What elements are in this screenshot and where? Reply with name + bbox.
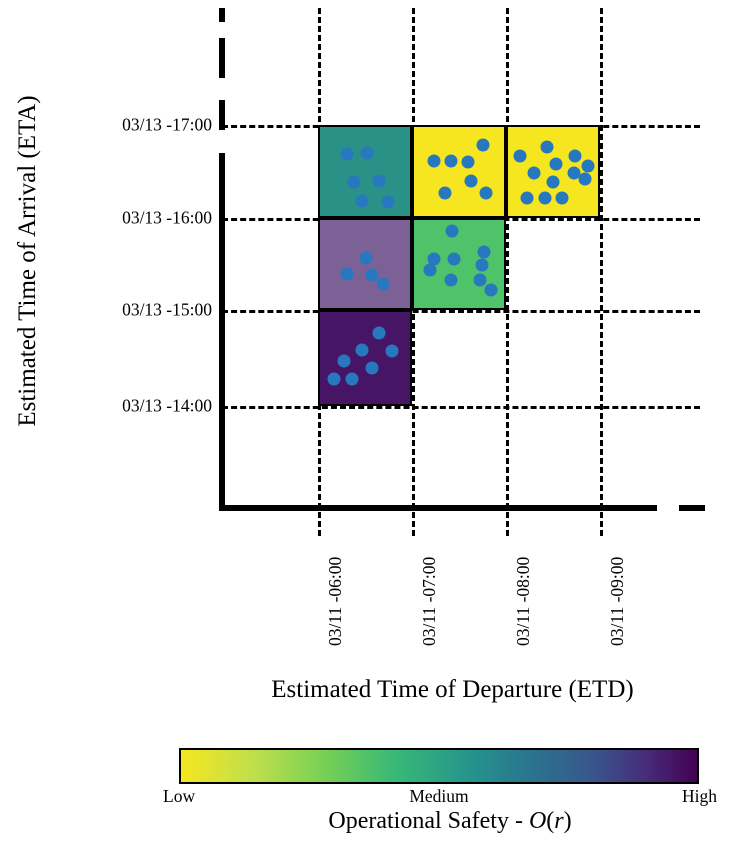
y-tick-label-0: 03/13 -17:00 [62,115,212,136]
colorbar-title-text: Operational Safety - [328,808,529,834]
scatter-dot [346,373,359,386]
scatter-dot [480,186,493,199]
x-tick-label-0: 03/11 -06:00 [325,557,346,646]
scatter-dot [341,147,354,160]
scatter-dot [327,373,340,386]
scatter-dot [473,273,486,286]
scatter-dot [484,284,497,297]
y-axis-spine-break-1 [219,38,226,78]
scatter-dot [373,327,386,340]
scatter-dot [366,362,379,375]
scatter-dot [373,175,386,188]
scatter-dot [579,172,592,185]
cell-r17-c06 [318,125,412,218]
colorbar-gradient [179,748,699,784]
scatter-dot [556,192,569,205]
cell-r17-c08 [506,125,600,218]
y-axis-spine [219,153,226,511]
colorbar-title-symbol-o: O [529,808,546,834]
cell-r15-c06 [318,310,412,406]
colorbar-title-paren-close: ) [564,808,572,834]
scatter-dot [568,150,581,163]
colorbar-container: Low Medium High [179,748,699,810]
scatter-dot [427,154,440,167]
gridline-horizontal-2 [222,310,700,313]
scatter-dot [360,146,373,159]
scatter-dot [356,343,369,356]
scatter-dot [477,138,490,151]
scatter-dot [520,192,533,205]
x-tick-label-3: 03/11 -09:00 [607,557,628,646]
colorbar-title-symbol-r: r [554,808,563,834]
y-tick-label-3: 03/13 -14:00 [62,396,212,417]
y-tick-label-1: 03/13 -16:00 [62,208,212,229]
colorbar-tick-low: Low [163,786,195,807]
y-axis-spine-break-2 [219,100,226,130]
scatter-dot [464,175,477,188]
scatter-dot [513,150,526,163]
cell-r16-c06 [318,218,412,310]
scatter-dot [540,141,553,154]
scatter-dot [478,245,491,258]
x-tick-label-2: 03/11 -08:00 [513,557,534,646]
scatter-dot [475,258,488,271]
scatter-dot [341,267,354,280]
x-axis-title: Estimated Time of Departure (ETD) [175,676,730,704]
scatter-dot [538,192,551,205]
scatter-dot [462,155,475,168]
gridline-horizontal-3 [222,406,700,409]
scatter-dot [528,167,541,180]
y-axis-title: Estimated Time of Arrival (ETA) [14,11,42,511]
scatter-dot [381,195,394,208]
gridline-vertical-3 [600,8,603,536]
x-tick-label-1: 03/11 -07:00 [419,557,440,646]
scatter-dot [444,154,457,167]
colorbar-tick-medium: Medium [409,786,468,807]
scatter-dot [582,160,595,173]
cell-r16-c07 [412,218,506,310]
scatter-dot [359,251,372,264]
scatter-dot [547,176,560,189]
scatter-dot [348,176,361,189]
scatter-dot [356,194,369,207]
y-axis-spine-break-0 [219,8,226,22]
gridline-vertical-2 [506,8,509,536]
scatter-dot [444,273,457,286]
x-axis-spine [219,505,657,512]
scatter-dot [424,264,437,277]
scatter-dot [386,344,399,357]
colorbar-tick-high: High [682,786,717,807]
scatter-dot [338,354,351,367]
scatter-dot [366,268,379,281]
y-tick-label-2: 03/13 -15:00 [62,300,212,321]
colorbar-title: Operational Safety - O(r) [150,808,750,835]
scatter-dot [438,186,451,199]
colorbar-ticklabels: Low Medium High [179,784,699,810]
cell-r17-c07 [412,125,506,218]
x-axis-spine-break [679,505,705,512]
scatter-dot [447,252,460,265]
scatter-dot [377,278,390,291]
scatter-dot [549,158,562,171]
scatter-dot [445,225,458,238]
